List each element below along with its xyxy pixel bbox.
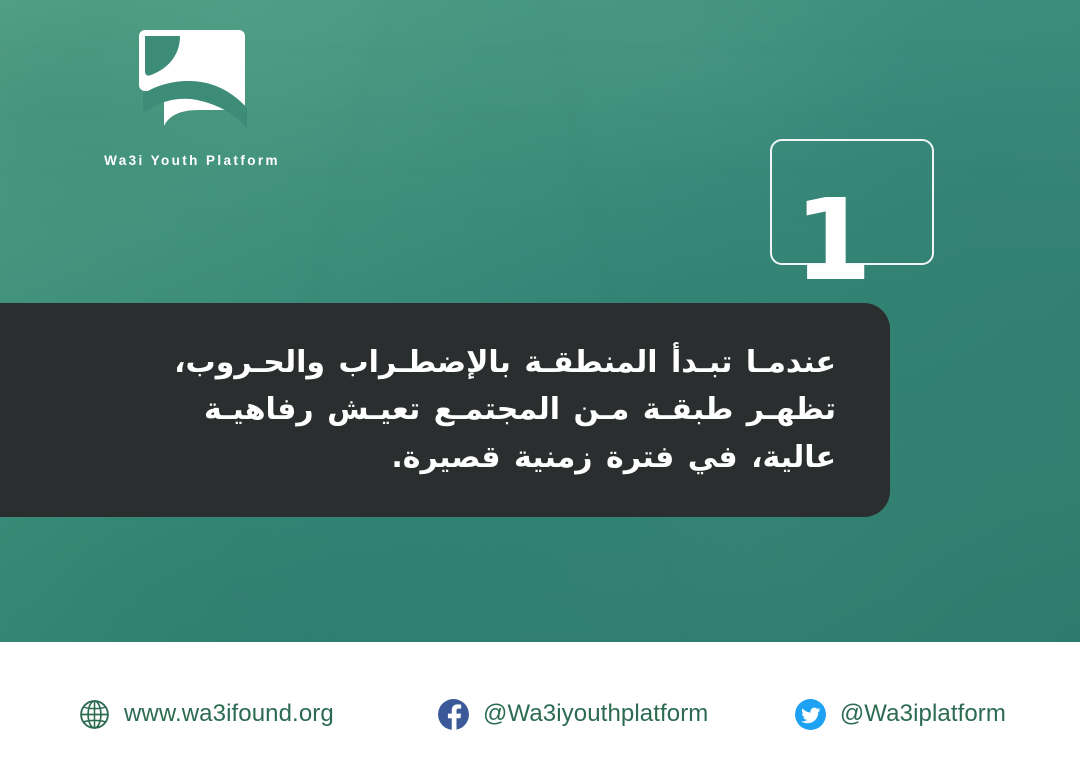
slide-number: 1: [794, 185, 872, 297]
brand-lockup: Wa3i Youth Platform: [92, 22, 292, 168]
quote-line-2: تظهـر طبقـة مـن المجتمـع تعيـش رفاهيـة: [30, 386, 836, 433]
quote-panel: عندمـا تبـدأ المنطقـة بالإضطـراب والحـرو…: [0, 303, 890, 517]
facebook-icon: [437, 698, 470, 731]
wa3i-flag-logo-icon: [131, 22, 253, 135]
brand-name: Wa3i Youth Platform: [92, 153, 292, 168]
footer-link-facebook-label: @Wa3iyouthplatform: [483, 700, 708, 728]
slide-number-badge: 1: [770, 139, 934, 265]
quote-line-1: عندمـا تبـدأ المنطقـة بالإضطـراب والحـرو…: [30, 339, 836, 386]
twitter-icon: [794, 698, 827, 731]
footer-link-website[interactable]: www.wa3ifound.org: [78, 698, 334, 731]
footer-bar: www.wa3ifound.org @Wa3iyouthplatform @Wa…: [0, 642, 1080, 772]
quote-line-3: عالية، في فترة زمنية قصيرة.: [30, 434, 836, 481]
footer-link-facebook[interactable]: @Wa3iyouthplatform: [437, 698, 708, 731]
footer-link-website-label: www.wa3ifound.org: [124, 700, 334, 728]
footer-links-row: www.wa3ifound.org @Wa3iyouthplatform @Wa…: [0, 698, 1080, 731]
footer-link-twitter[interactable]: @Wa3iplatform: [794, 698, 1006, 731]
globe-icon: [78, 698, 111, 731]
social-card: Wa3i Youth Platform 1 عندمـا تبـدأ المنط…: [0, 0, 1080, 772]
footer-link-twitter-label: @Wa3iplatform: [840, 700, 1006, 728]
